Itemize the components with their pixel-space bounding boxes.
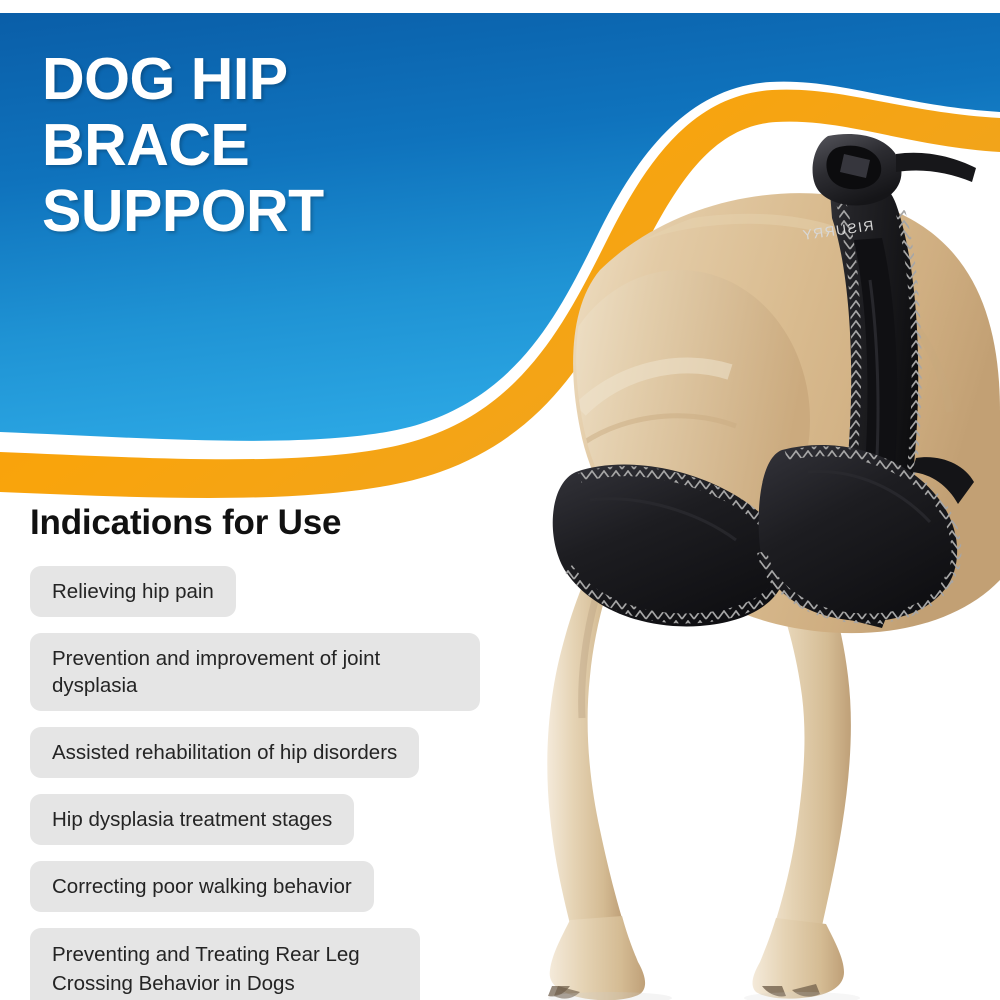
title-line-2: BRACE: [42, 112, 462, 178]
product-infographic: DOG HIP BRACE SUPPORT: [0, 0, 1000, 1000]
list-item: Prevention and improvement of joint dysp…: [30, 633, 480, 711]
list-item: Hip dysplasia treatment stages: [30, 794, 354, 845]
list-item: Correcting poor walking behavior: [30, 861, 374, 912]
list-item: Assisted rehabilitation of hip disorders: [30, 727, 419, 778]
list-item: Relieving hip pain: [30, 566, 236, 617]
knee-wrap-far: [759, 445, 974, 621]
indications-heading: Indications for Use: [30, 502, 341, 544]
page-title: DOG HIP BRACE SUPPORT: [42, 46, 462, 244]
title-line-1: DOG HIP: [42, 46, 462, 112]
list-item: Preventing and Treating Rear Leg Crossin…: [30, 928, 420, 1000]
indications-list: Relieving hip pain Prevention and improv…: [30, 566, 500, 1000]
product-photo: RISURRY: [430, 120, 1000, 1000]
brace-buckle: [813, 134, 976, 205]
title-line-3: SUPPORT: [42, 178, 462, 244]
